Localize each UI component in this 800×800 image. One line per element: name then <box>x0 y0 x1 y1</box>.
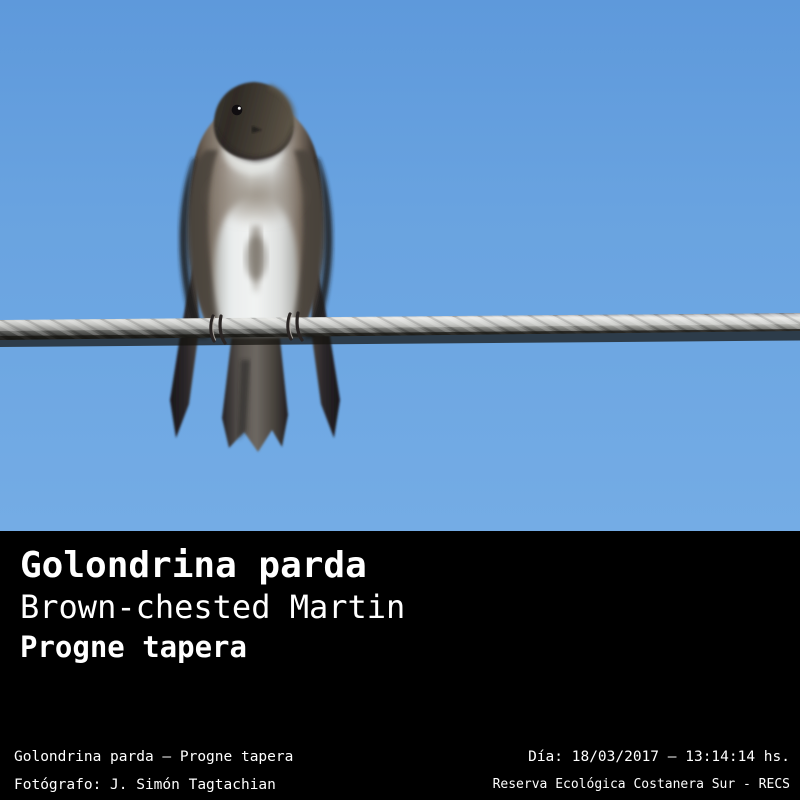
species-common-name: Golondrina parda <box>20 545 620 587</box>
footer-right-block: Día: 18/03/2017 — 13:14:14 hs. Reserva E… <box>493 743 790 799</box>
footer-photographer-line: Fotógrafo: J. Simón Tagtachian <box>14 771 293 799</box>
bird-photograph <box>0 0 800 531</box>
footer-location-line: Reserva Ecológica Costanera Sur - RECS <box>493 771 790 799</box>
species-name-block: Golondrina parda Brown-chested Martin Pr… <box>20 545 620 667</box>
bird-eye-catchlight <box>238 107 241 110</box>
caption-bar: Golondrina parda Brown-chested Martin Pr… <box>0 531 800 729</box>
photo-card: Golondrina parda Brown-chested Martin Pr… <box>0 0 800 800</box>
footer-date-line: Día: 18/03/2017 — 13:14:14 hs. <box>493 743 790 771</box>
bird-eye <box>232 105 243 116</box>
species-english-name: Brown-chested Martin <box>20 587 620 627</box>
footer-left-block: Golondrina parda — Progne tapera Fotógra… <box>14 743 293 799</box>
photo-illustration <box>0 0 800 531</box>
footer-bar: Golondrina parda — Progne tapera Fotógra… <box>0 729 800 800</box>
footer-species-line: Golondrina parda — Progne tapera <box>14 743 293 771</box>
bird-breast-spot <box>245 236 267 280</box>
bird-brown-chest-band <box>204 166 308 226</box>
sky-background <box>0 0 800 531</box>
species-scientific-name: Progne tapera <box>20 627 620 667</box>
